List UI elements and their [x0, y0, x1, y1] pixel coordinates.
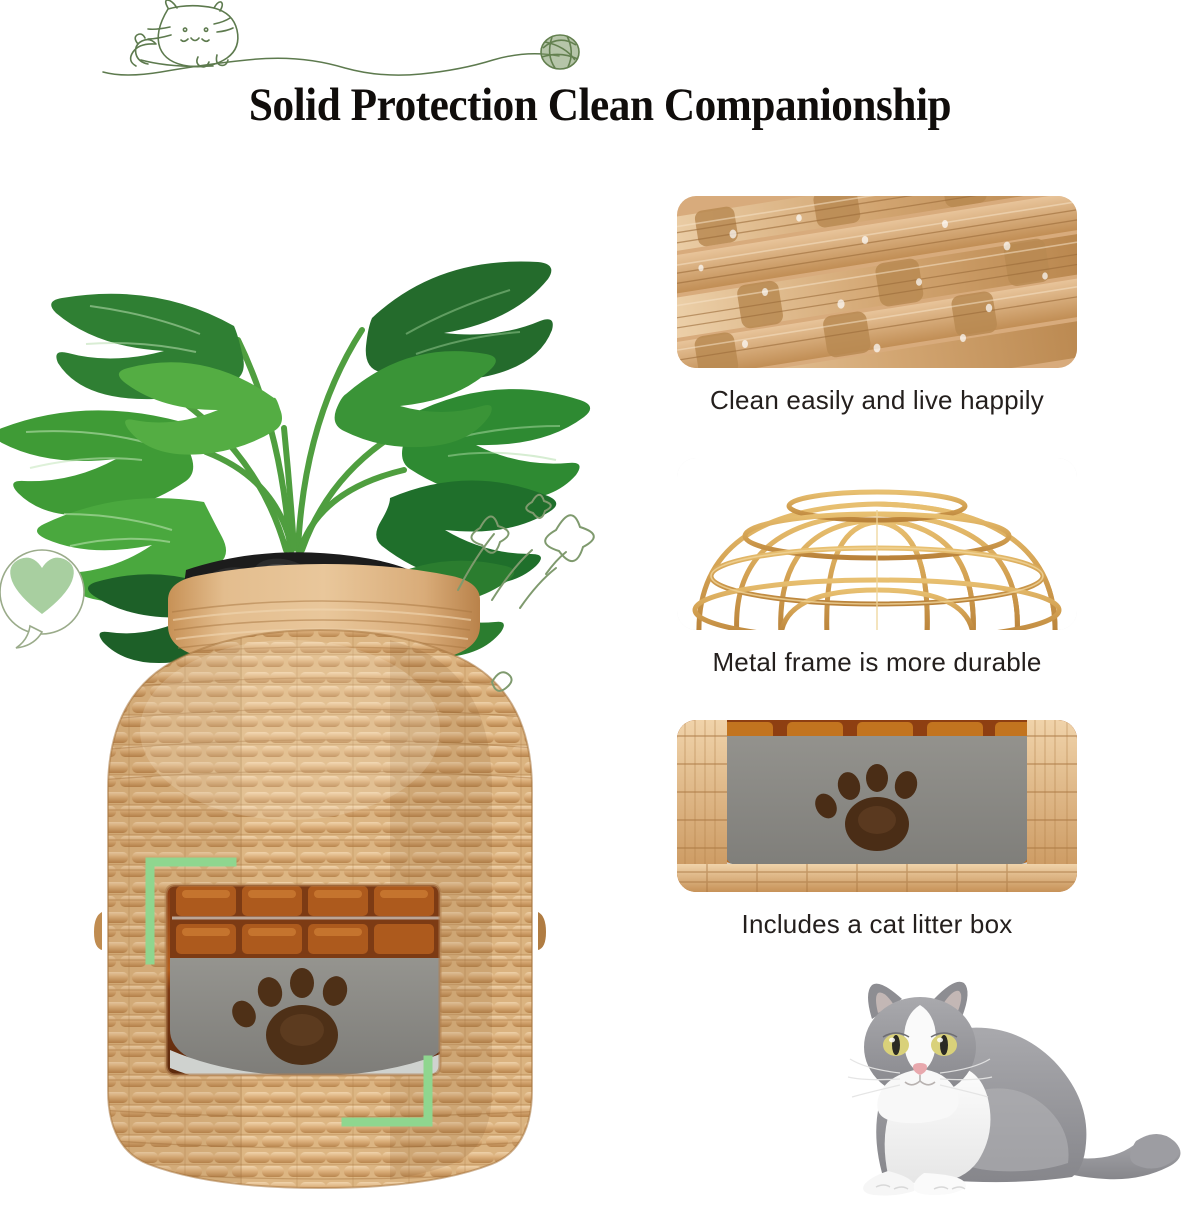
feature-card-list: Clean easily and live happily	[677, 196, 1077, 940]
feature-image-wet-rattan	[677, 196, 1077, 368]
hero-product-image	[0, 130, 650, 1200]
rattan-frame-bottom	[677, 864, 1077, 892]
feature-caption: Clean easily and live happily	[677, 385, 1077, 416]
yarn-ball-icon	[541, 35, 579, 69]
feature-clean-easily: Clean easily and live happily	[677, 196, 1077, 416]
litter-tray	[170, 958, 450, 1092]
product-infographic: Solid Protection Clean Companionship	[0, 0, 1200, 1200]
cat-photo	[820, 975, 1200, 1200]
string-line	[103, 54, 559, 75]
cat-doodle-icon	[131, 0, 238, 67]
feature-caption: Includes a cat litter box	[677, 909, 1077, 940]
heart-speech-bubble	[0, 550, 84, 648]
page-title: Solid Protection Clean Companionship	[48, 78, 1152, 132]
feature-litter-box: Includes a cat litter box	[677, 720, 1077, 940]
feature-metal-frame: Metal frame is more durable	[677, 458, 1077, 678]
header-doodle	[0, 0, 1200, 80]
feature-image-litter-box	[677, 720, 1077, 892]
entrance-opening	[166, 880, 452, 1092]
feature-image-metal-frame	[677, 458, 1077, 630]
feature-caption: Metal frame is more durable	[677, 647, 1077, 678]
